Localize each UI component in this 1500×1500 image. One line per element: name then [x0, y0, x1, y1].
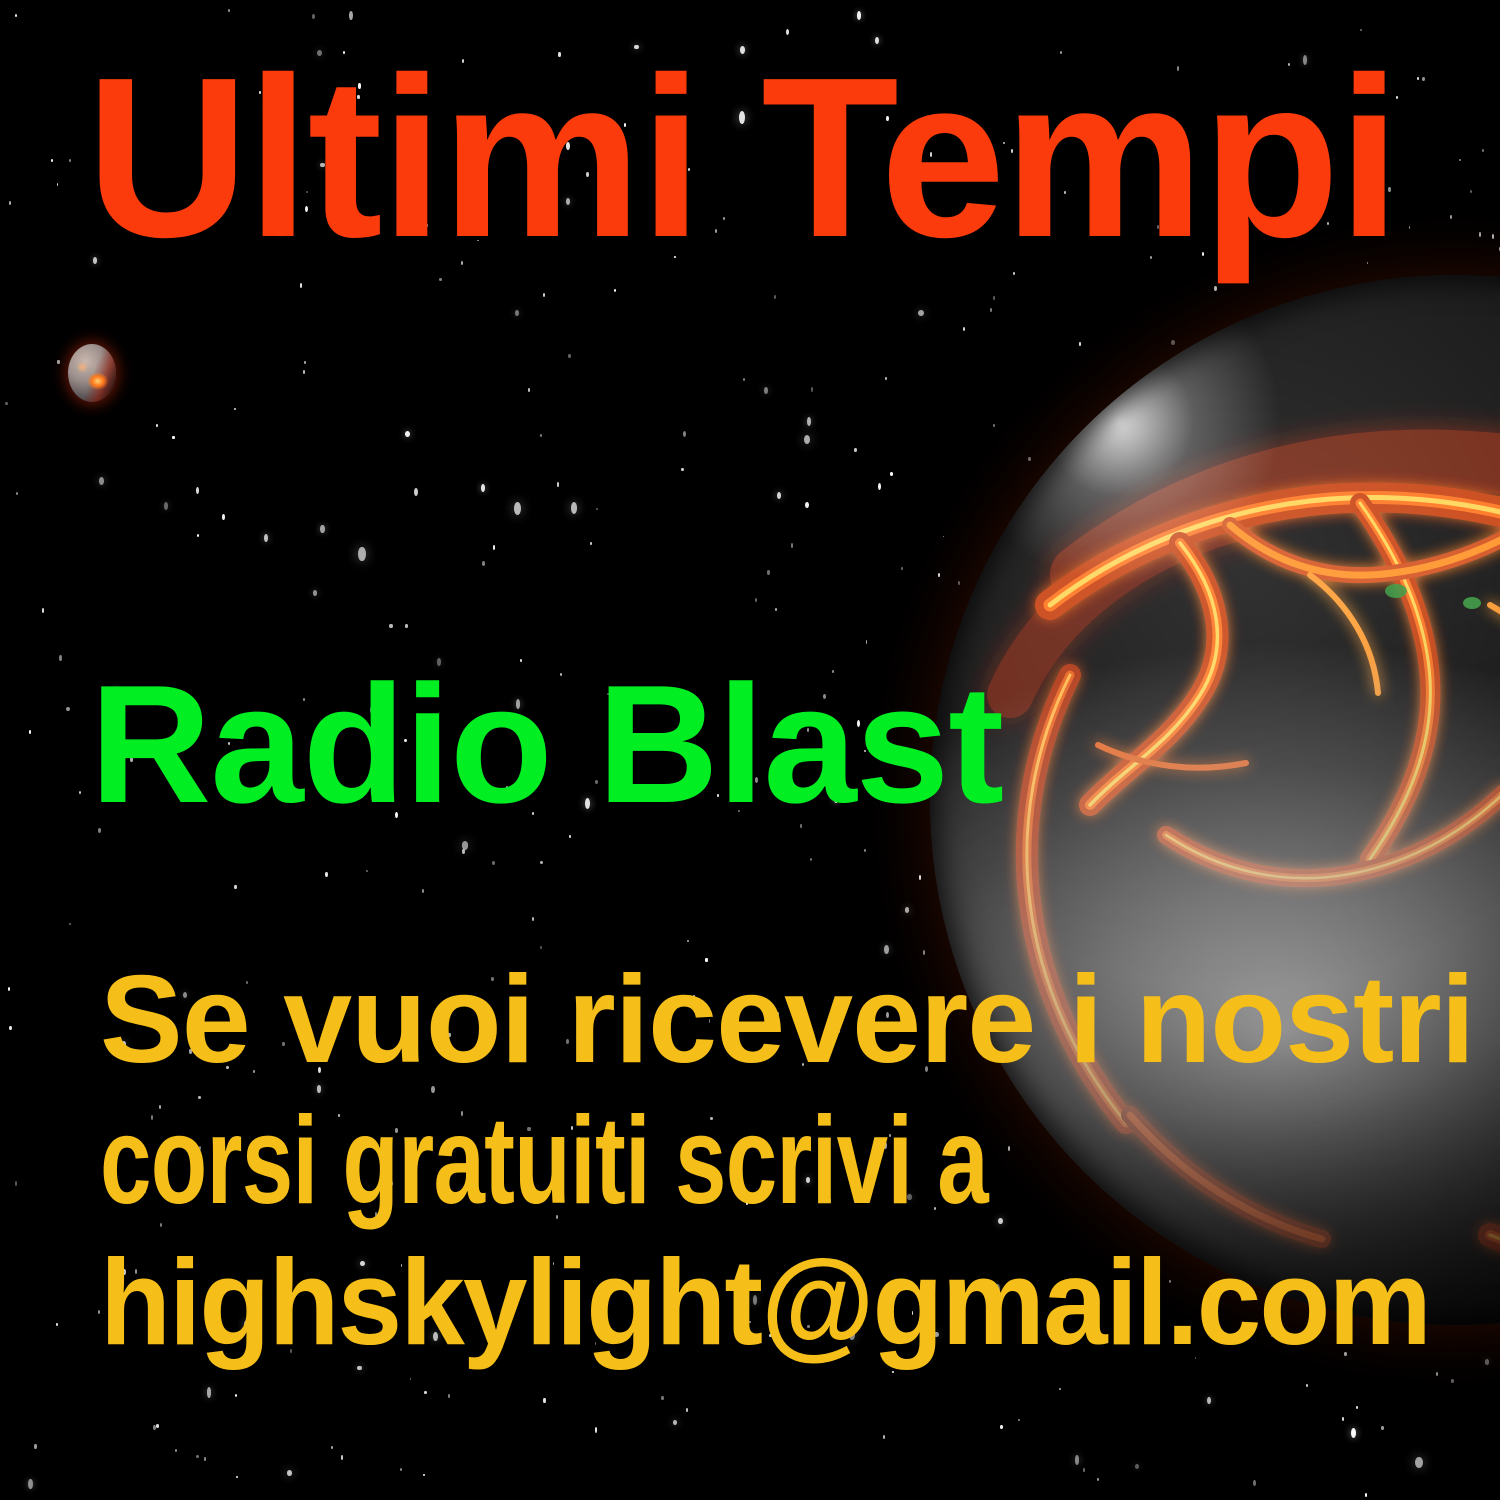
text-layer: Ultimi Tempi Radio Blast Se vuoi ricever… — [0, 0, 1500, 1500]
show-name-subtitle: Radio Blast — [90, 660, 1003, 828]
contact-email[interactable]: highskylight@gmail.com — [100, 1232, 1376, 1373]
call-to-action-block: Se vuoi ricevere i nostri corsi gratuiti… — [100, 950, 1440, 1373]
cta-line-1: Se vuoi ricevere i nostri — [100, 950, 1440, 1091]
poster-canvas: Ultimi Tempi Radio Blast Se vuoi ricever… — [0, 0, 1500, 1500]
page-title: Ultimi Tempi — [86, 44, 1431, 272]
cta-line-2: corsi gratuiti scrivi a — [100, 1091, 1100, 1232]
